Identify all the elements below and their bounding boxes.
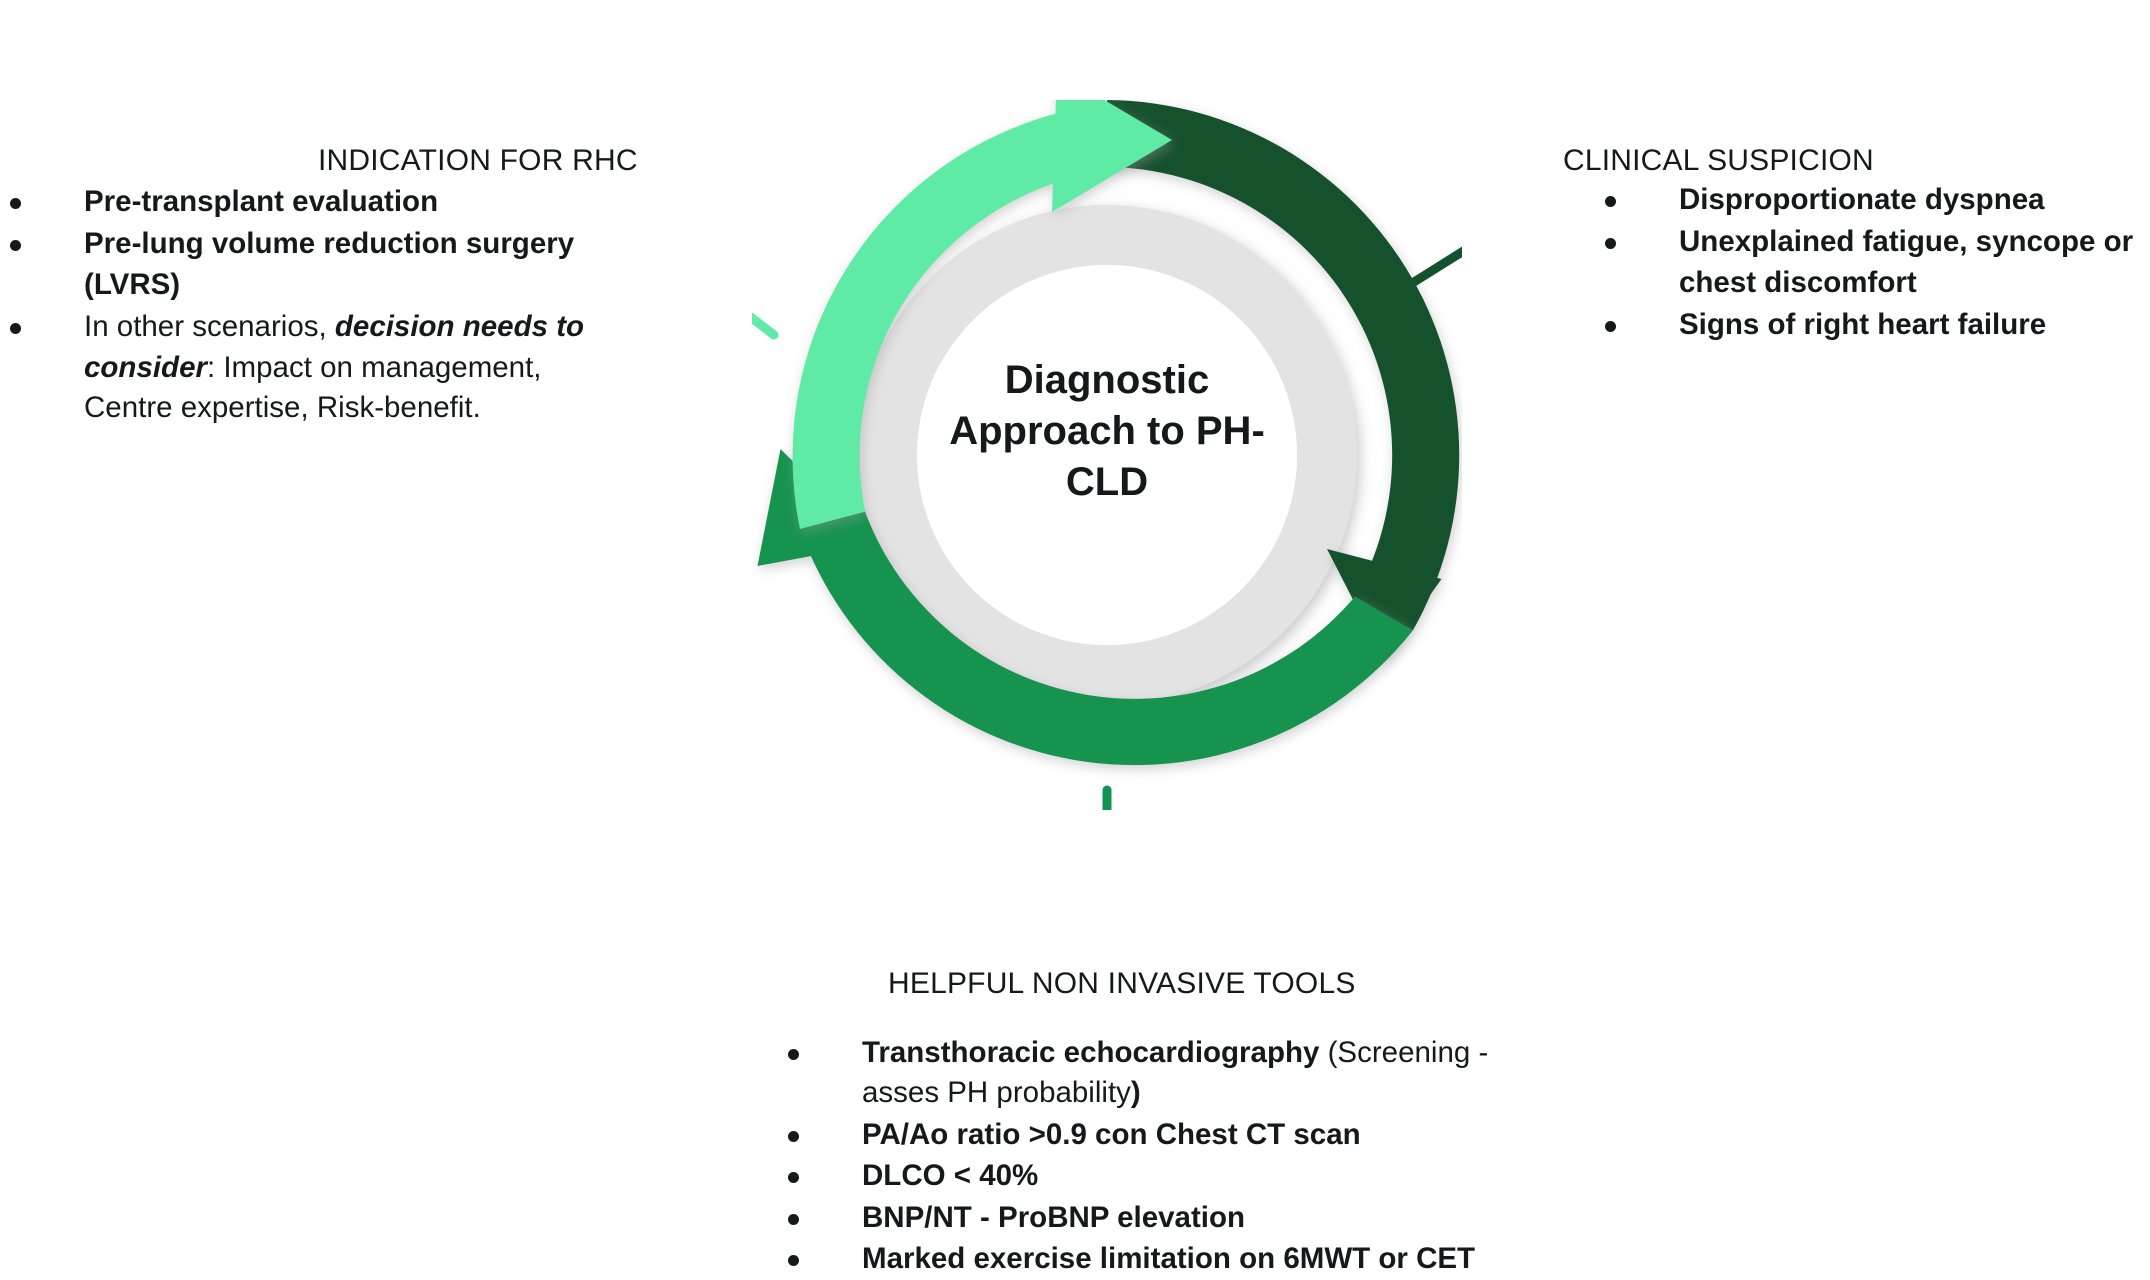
section-heading-clinical-suspicion: CLINICAL SUSPICION bbox=[1563, 142, 1874, 180]
list-item-text-part: In other scenarios, bbox=[84, 310, 335, 343]
list-item: BNP/NT - ProBNP elevation bbox=[778, 1198, 1558, 1238]
list-item-text-strong: ) bbox=[1131, 1076, 1141, 1109]
list-item: Pre-lung volume reduction surgery (LVRS) bbox=[0, 224, 600, 305]
connector-helpful-tools bbox=[1090, 790, 1124, 810]
center-title-line-3: CLD bbox=[837, 457, 1377, 508]
diagram-canvas: Diagnostic Approach to PH- CLD INDICATIO… bbox=[0, 0, 2150, 1280]
list-item: In other scenarios, decision needs to co… bbox=[0, 307, 600, 428]
center-title-line-2: Approach to PH- bbox=[837, 406, 1377, 457]
cycle-diagram: Diagnostic Approach to PH- CLD bbox=[752, 100, 1462, 810]
center-title-line-1: Diagnostic bbox=[837, 355, 1377, 406]
bullet-list-indication-rhc: Pre-transplant evaluation Pre-lung volum… bbox=[0, 182, 600, 430]
section-heading-helpful-tools: HELPFUL NON INVASIVE TOOLS bbox=[888, 965, 1356, 1003]
list-item: Pre-transplant evaluation bbox=[0, 182, 600, 222]
bullet-list-helpful-tools: Transthoracic echocardiography (Screenin… bbox=[778, 1033, 1558, 1280]
list-item: Disproportionate dyspnea bbox=[1595, 180, 2150, 220]
center-title: Diagnostic Approach to PH- CLD bbox=[837, 355, 1377, 509]
connector-clinical-suspicion bbox=[1414, 191, 1462, 282]
list-item: PA/Ao ratio >0.9 con Chest CT scan bbox=[778, 1115, 1558, 1155]
list-item: Unexplained fatigue, syncope or chest di… bbox=[1595, 222, 2150, 303]
connector-indication-rhc bbox=[752, 235, 774, 335]
list-item-text-strong: Transthoracic echocardiography bbox=[862, 1036, 1328, 1069]
list-item: Transthoracic echocardiography (Screenin… bbox=[778, 1033, 1558, 1114]
list-item: Signs of right heart failure bbox=[1595, 305, 2150, 345]
list-item: Marked exercise limitation on 6MWT or CE… bbox=[778, 1239, 1558, 1279]
bullet-list-clinical-suspicion: Disproportionate dyspnea Unexplained fat… bbox=[1595, 180, 2150, 348]
list-item: DLCO < 40% bbox=[778, 1156, 1558, 1196]
section-heading-indication-rhc: INDICATION FOR RHC bbox=[318, 142, 638, 180]
